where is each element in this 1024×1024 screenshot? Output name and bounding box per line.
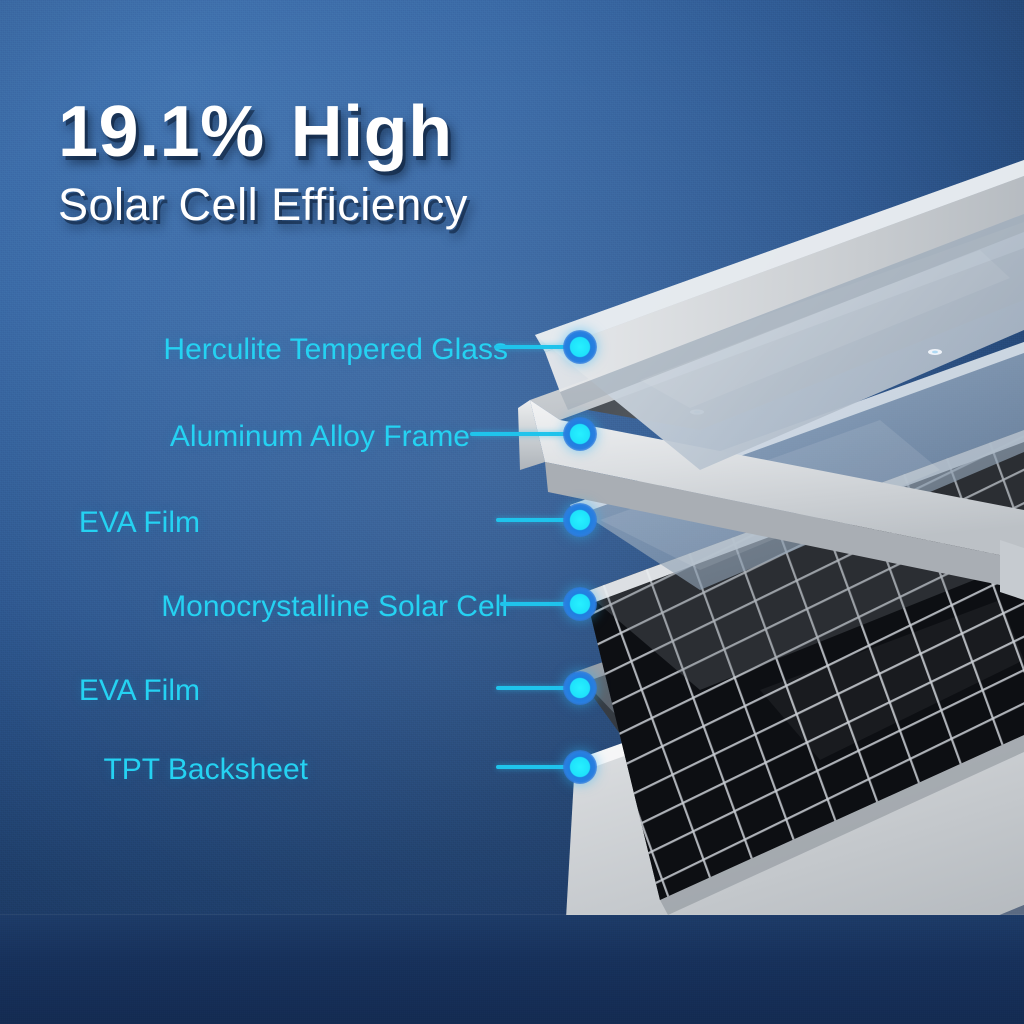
callout-label: Aluminum Alloy Frame xyxy=(170,422,470,452)
callout-tpt-backsheet: TPT Backsheet xyxy=(0,745,580,789)
callout-label: EVA Film xyxy=(79,676,200,706)
headline-block: 19.1%High Solar Cell Efficiency xyxy=(58,96,678,227)
callout-herculite-tempered-glass: Herculite Tempered Glass xyxy=(0,325,580,369)
callout-dot-icon xyxy=(563,750,597,784)
infographic-canvas: 19.1%High Solar Cell Efficiency Herculit… xyxy=(0,0,1024,1024)
callout-dot-icon xyxy=(563,417,597,451)
callout-label: Herculite Tempered Glass xyxy=(163,335,508,365)
callout-label: TPT Backsheet xyxy=(103,755,308,785)
callout-dot-icon xyxy=(563,671,597,705)
callout-label: Monocrystalline Solar Cell xyxy=(161,592,508,622)
headline-primary: 19.1%High xyxy=(58,96,678,168)
headline-subtitle: Solar Cell Efficiency xyxy=(58,182,678,227)
callout-dot-icon xyxy=(563,330,597,364)
efficiency-percent: 19.1% xyxy=(58,92,265,172)
callout-aluminum-alloy-frame: Aluminum Alloy Frame xyxy=(0,412,580,456)
callout-dot-icon xyxy=(563,503,597,537)
callout-eva-film-lower: EVA Film xyxy=(0,666,580,710)
callout-eva-film-upper: EVA Film xyxy=(0,498,580,542)
headline-keyword: High xyxy=(291,92,453,172)
callout-dot-icon xyxy=(563,587,597,621)
callout-label: EVA Film xyxy=(79,508,200,538)
background-lower-band xyxy=(0,915,1024,1024)
callout-monocrystalline-solar-cell: Monocrystalline Solar Cell xyxy=(0,582,580,626)
